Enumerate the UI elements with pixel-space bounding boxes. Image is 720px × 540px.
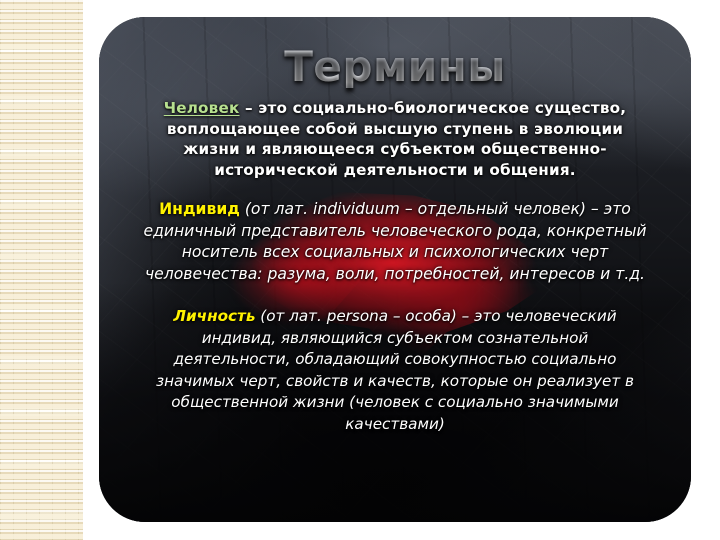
content-panel: Термины Человек – это социально-биологич… (99, 17, 691, 522)
term-definition-lichnost: Личность (от лат. persona – особа) – это… (115, 306, 675, 435)
presentation-slide: Термины Человек – это социально-биологич… (0, 0, 720, 540)
slide-content: Термины Человек – это социально-биологич… (99, 17, 691, 522)
decorative-left-border (0, 0, 83, 540)
term-latin-lichnost: persona (327, 307, 388, 325)
term-definition-chelovek: Человек – это социально-биологическое су… (115, 98, 675, 180)
term-body-lichnost: – особа) – это человеческий индивид, явл… (156, 307, 634, 433)
slide-title: Термины (115, 17, 675, 88)
term-latin-individ: individuum (313, 200, 400, 218)
term-body-pre-lichnost: (от лат. (255, 307, 326, 325)
term-keyword-lichnost: Личность (173, 307, 255, 325)
term-definition-individ: Индивид (от лат. individuum – отдельный … (115, 199, 675, 285)
term-body-pre-individ: (от лат. (240, 200, 313, 218)
term-keyword-chelovek: Человек (164, 99, 240, 117)
term-keyword-individ: Индивид (159, 200, 240, 218)
